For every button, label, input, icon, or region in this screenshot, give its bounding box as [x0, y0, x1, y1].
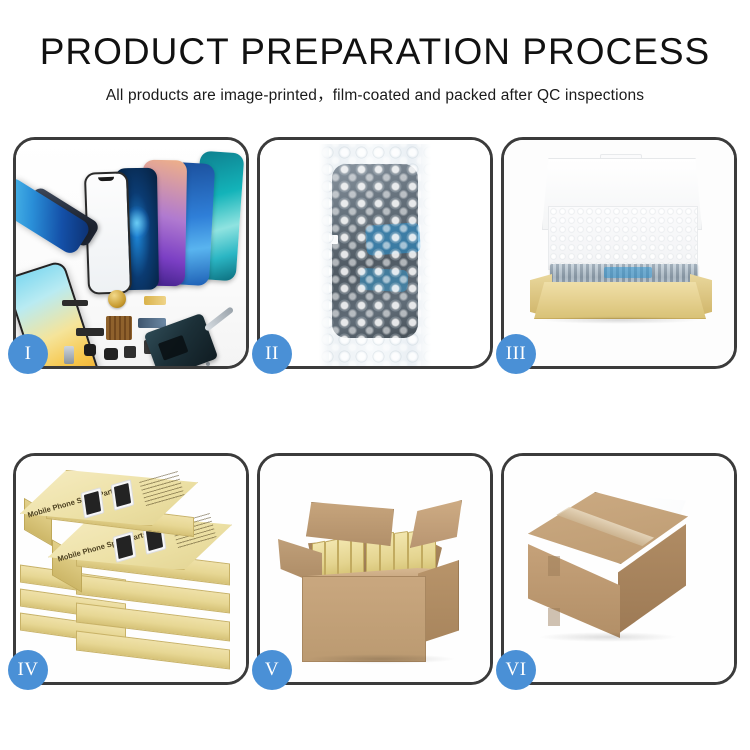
speaker-grid	[106, 316, 132, 340]
packed-box	[338, 537, 351, 578]
open-mailer-box-icon	[504, 140, 734, 366]
carton-shadow	[538, 632, 678, 642]
film-edge-right	[421, 144, 431, 366]
step-badge-1: I	[8, 334, 48, 374]
step-6-image	[504, 456, 734, 682]
step-badge-4: IV	[8, 650, 48, 690]
step-panel-2: II	[257, 137, 493, 369]
carton-seam-mark	[548, 556, 560, 576]
foam-lining	[548, 206, 698, 270]
carton-shadow	[306, 654, 456, 664]
bubble-wrap-icon	[260, 140, 490, 366]
box-shadow	[540, 316, 700, 324]
step-panel-5: V	[257, 453, 493, 685]
step-badge-5: V	[252, 650, 292, 690]
step-panel-4: Mobile Phone Spare Parts Mobile Phone Sp…	[13, 453, 249, 685]
step-3-image	[504, 140, 734, 366]
step-panel-6: VI	[501, 453, 737, 685]
process-steps-grid: I II	[13, 137, 737, 685]
open-carton-icon	[260, 456, 490, 682]
header: PRODUCT PREPARATION PROCESS All products…	[0, 0, 750, 105]
sealed-carton-icon	[504, 456, 734, 682]
step-panel-1: I	[13, 137, 249, 369]
step-badge-3: III	[496, 334, 536, 374]
carton-front-face	[302, 576, 426, 662]
step-4-image: Mobile Phone Spare Parts Mobile Phone Sp…	[16, 456, 246, 682]
packed-box	[325, 539, 338, 578]
page-title: PRODUCT PREPARATION PROCESS	[0, 0, 750, 70]
bubble-cells-offset	[319, 144, 431, 366]
step-panel-3: III	[501, 137, 737, 369]
phones-and-parts-icon	[16, 140, 246, 366]
step-1-image	[16, 140, 246, 366]
gold-flex-cable	[144, 296, 166, 305]
film-edge-left	[319, 144, 329, 366]
page-subtitle: All products are image-printed，film-coat…	[0, 70, 750, 105]
camera-module	[84, 344, 96, 356]
step-badge-2: II	[252, 334, 292, 374]
sim-tray	[64, 346, 74, 364]
box-screen-print	[81, 487, 105, 519]
speaker-module	[124, 346, 136, 358]
step-2-image	[260, 140, 490, 366]
product-preparation-infographic: PRODUCT PREPARATION PROCESS All products…	[0, 0, 750, 750]
stacked-boxes-icon: Mobile Phone Spare Parts Mobile Phone Sp…	[16, 456, 246, 682]
copper-coil	[108, 290, 126, 308]
rear-camera	[104, 348, 118, 360]
black-flex-cable	[76, 328, 104, 336]
antenna-bar	[62, 300, 88, 306]
step-5-image	[260, 456, 490, 682]
product-blue-label	[604, 267, 652, 278]
screws	[206, 362, 210, 366]
carton-seam-mark	[548, 608, 560, 626]
box-front-panel	[534, 282, 706, 319]
box-screen-print	[111, 479, 135, 511]
step-badge-6: VI	[496, 650, 536, 690]
box-screen-print	[113, 531, 137, 563]
